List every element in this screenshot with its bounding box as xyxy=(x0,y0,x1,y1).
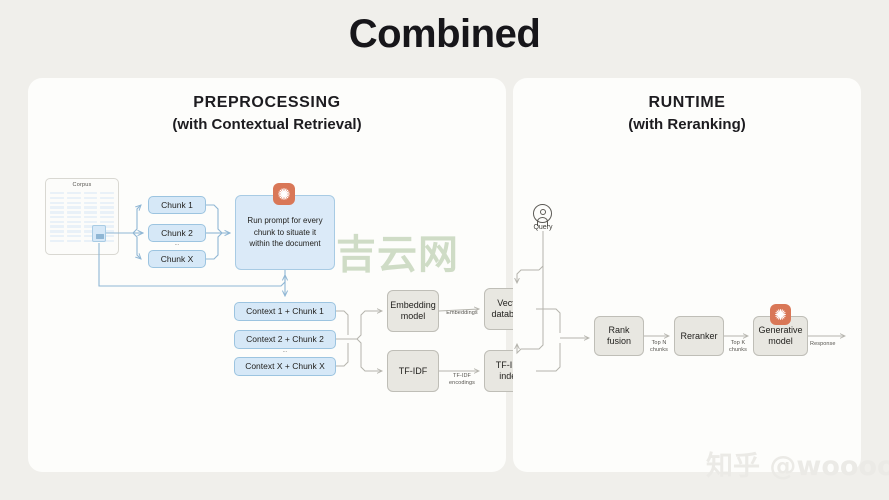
rank-fusion-box[interactable]: Rank fusion xyxy=(594,316,644,356)
context-2-box[interactable]: Context 2 + Chunk 2 xyxy=(234,330,336,349)
edge-label-response: Response xyxy=(810,341,848,348)
context-x-box[interactable]: Context X + Chunk X xyxy=(234,357,336,376)
page-title: Combined xyxy=(0,12,889,57)
runtime-title-line2: (with Reranking) xyxy=(513,114,861,136)
chunks-ellipsis: ... xyxy=(148,241,206,248)
user-avatar-icon xyxy=(533,204,552,223)
document-icon xyxy=(92,225,106,242)
corpus-label: Corpus xyxy=(45,182,119,188)
diagram-canvas: Combined PREPROCESSING (with Contextual … xyxy=(0,0,889,500)
contexts-ellipsis: ... xyxy=(234,348,336,355)
green-watermark: 吉云网 xyxy=(336,222,459,280)
edge-label-tfidf-encodings: TF-IDF encodings xyxy=(440,373,484,387)
chunk-2-box[interactable]: Chunk 2 xyxy=(148,224,206,242)
preprocessing-title: PREPROCESSING (with Contextual Retrieval… xyxy=(28,92,506,136)
runtime-title: RUNTIME (with Reranking) xyxy=(513,92,861,136)
preprocessing-title-line2: (with Contextual Retrieval) xyxy=(28,114,506,136)
anthropic-burst-icon xyxy=(770,304,791,325)
anthropic-burst-icon xyxy=(273,183,295,205)
corpus-column xyxy=(50,192,64,249)
edge-label-top-n-chunks: Top N chunks xyxy=(644,340,674,354)
embedding-model-box[interactable]: Embedding model xyxy=(387,290,439,332)
run-prompt-box[interactable]: Run prompt for every chunk to situate it… xyxy=(235,195,335,270)
corpus-column xyxy=(67,192,81,249)
chunk-x-box[interactable]: Chunk X xyxy=(148,250,206,268)
tfidf-box[interactable]: TF-IDF xyxy=(387,350,439,392)
zhihu-watermark: 知乎 @wooooo xyxy=(706,444,889,483)
edge-label-top-k-chunks: Top K chunks xyxy=(723,340,753,354)
runtime-title-line1: RUNTIME xyxy=(648,94,725,111)
runtime-panel xyxy=(513,78,861,472)
edge-label-embeddings: Embeddings xyxy=(438,310,486,317)
preprocessing-title-line1: PREPROCESSING xyxy=(193,94,340,111)
reranker-box[interactable]: Reranker xyxy=(674,316,724,356)
query-label: Query xyxy=(520,224,566,231)
chunk-1-box[interactable]: Chunk 1 xyxy=(148,196,206,214)
context-1-box[interactable]: Context 1 + Chunk 1 xyxy=(234,302,336,321)
